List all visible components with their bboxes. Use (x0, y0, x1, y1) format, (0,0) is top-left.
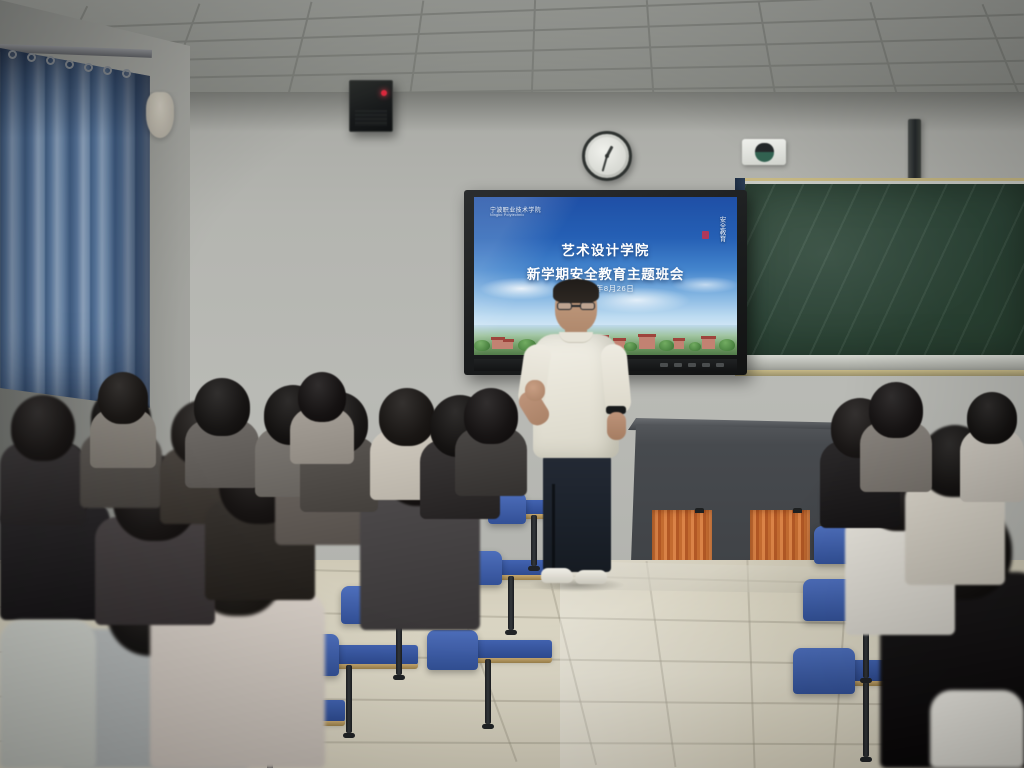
chair-foot (505, 630, 517, 635)
chair-foot (860, 757, 872, 762)
clock-minute-hand (602, 156, 608, 172)
presenter-shoe-right (575, 570, 607, 584)
screen-control-button[interactable] (660, 363, 668, 367)
chair-foot (860, 678, 872, 683)
student-torso (0, 620, 96, 768)
speaker-led-icon (381, 90, 387, 96)
student-left-bun (0, 395, 86, 525)
student-head (869, 382, 923, 438)
student-right-far (960, 392, 1024, 502)
student-row4-a (455, 388, 527, 496)
wall-speaker (349, 80, 393, 132)
curtain-ring (103, 66, 112, 75)
presenter (519, 282, 631, 596)
chalk-dust (745, 184, 1024, 358)
student-head (98, 372, 148, 424)
curtain-ring (84, 63, 93, 72)
presenter-shoe-left (541, 568, 573, 583)
student-head (298, 372, 346, 422)
security-camera-icon (742, 139, 786, 165)
student-head (967, 392, 1017, 444)
student-row4-b (90, 372, 156, 468)
student-torso (930, 690, 1024, 768)
chair-leg (346, 665, 352, 733)
desk-surface[interactable] (470, 640, 552, 659)
chair-leg (485, 659, 491, 724)
glasses-lens-right (580, 302, 595, 310)
curtain-ring (65, 60, 74, 69)
wall-clock (582, 131, 632, 181)
desk-surface[interactable] (330, 645, 418, 665)
screen-control-button[interactable] (674, 363, 682, 367)
speaker-grill (355, 110, 387, 126)
desk-edge-trim (330, 664, 418, 669)
desk-edge-trim (470, 658, 552, 663)
screen-control-button[interactable] (688, 363, 696, 367)
student-row4-c (290, 372, 354, 464)
chair-foot (482, 724, 494, 729)
student-head (194, 378, 250, 436)
blackboard[interactable] (745, 184, 1024, 358)
desk-center-a[interactable] (470, 640, 552, 659)
student-right-row4 (860, 382, 932, 492)
student-head (464, 388, 518, 444)
presenter-leg-seam (552, 484, 555, 572)
curtain-ring (8, 50, 17, 59)
student-left-edge-front (0, 620, 96, 768)
camera-lens (755, 143, 774, 162)
student-head (11, 395, 75, 461)
presenter-glasses-icon (557, 302, 595, 310)
glasses-bridge (572, 305, 580, 307)
desk-left-mid[interactable] (330, 645, 418, 665)
screen-control-button[interactable] (716, 363, 724, 367)
clock-face (588, 137, 626, 175)
presenter-hair (553, 279, 599, 303)
chair-back[interactable] (793, 648, 855, 694)
chalk-ledge-trim (735, 370, 1024, 376)
chair-foot (343, 733, 355, 738)
presenter-arm-right (600, 343, 632, 415)
wall-speaker-bar (908, 119, 921, 181)
student-row3-a (185, 378, 259, 488)
chair-leg (508, 576, 514, 630)
podium-handle-left-icon[interactable] (695, 508, 704, 513)
clock-center-pin (605, 154, 609, 158)
presenter-hand-right (607, 412, 626, 440)
chair-back[interactable] (427, 630, 478, 670)
chair-leg (863, 682, 869, 757)
student-right-white-shirt (930, 690, 1024, 768)
chair-foot (393, 675, 405, 680)
curtain-tieback (146, 92, 174, 138)
screen-control-button[interactable] (702, 363, 710, 367)
presenter-fist (525, 380, 545, 401)
glasses-lens-left (557, 302, 572, 310)
podium-handle-right-icon[interactable] (793, 508, 802, 513)
classroom-photo: 宁波职业技术学院 Ningbo Polytechnic 安全教育 艺术设计学院 … (0, 0, 1024, 768)
